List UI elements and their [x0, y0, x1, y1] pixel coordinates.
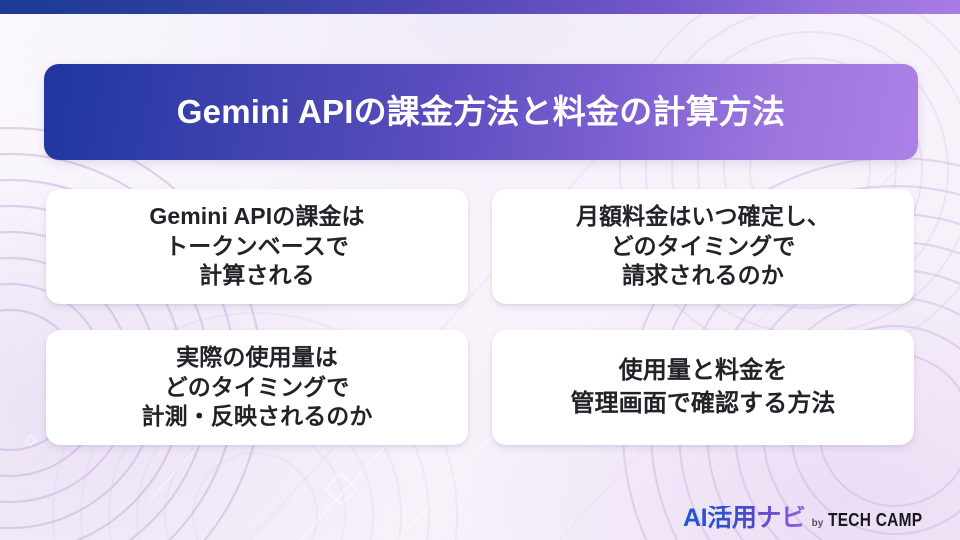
title-banner: Gemini APIの課金方法と料金の計算方法 [44, 64, 918, 160]
topic-card-3[interactable]: 実際の使用量は どのタイミングで 計測・反映されるのか [46, 330, 468, 445]
topic-card-2[interactable]: 月額料金はいつ確定し、 どのタイミングで 請求されるのか [492, 189, 914, 304]
top-accent-strip [0, 0, 960, 14]
logo-by-text: by [812, 519, 824, 529]
topic-card-4-label: 使用量と料金を 管理画面で確認する方法 [570, 355, 835, 419]
slide-canvas: Gemini APIの課金方法と料金の計算方法 Gemini APIの課金は ト… [0, 0, 960, 540]
logo-primary-text: AI活用ナビ [683, 506, 806, 531]
topic-card-grid: Gemini APIの課金は トークンベースで 計算される 月額料金はいつ確定し… [46, 189, 914, 453]
logo-brand-text: TECH CAMP [828, 511, 922, 529]
topic-card-3-label: 実際の使用量は どのタイミングで 計測・反映されるのか [142, 343, 373, 433]
footer-logo[interactable]: AI活用ナビ by TECH CAMP [683, 506, 938, 531]
topic-card-1[interactable]: Gemini APIの課金は トークンベースで 計算される [46, 189, 468, 304]
topic-card-1-label: Gemini APIの課金は トークンベースで 計算される [149, 202, 364, 292]
topic-card-4[interactable]: 使用量と料金を 管理画面で確認する方法 [492, 330, 914, 445]
topic-card-2-label: 月額料金はいつ確定し、 どのタイミングで 請求されるのか [576, 202, 830, 292]
page-title: Gemini APIの課金方法と料金の計算方法 [177, 94, 785, 130]
